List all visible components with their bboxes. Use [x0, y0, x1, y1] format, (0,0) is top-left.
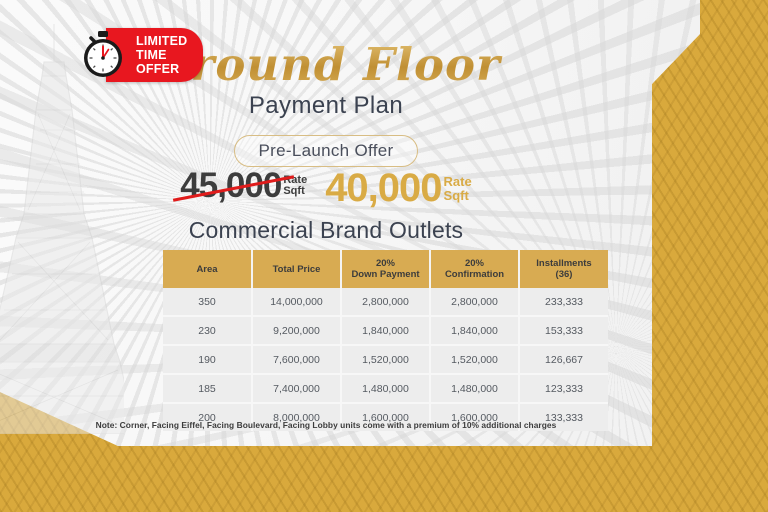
table-header-row: AreaTotal Price20%Down Payment20%Confirm…	[163, 250, 608, 288]
table-cell: 1,520,000	[430, 345, 519, 374]
table-row: 1857,400,0001,480,0001,480,000123,333	[163, 374, 608, 403]
new-rate-label: Rate	[444, 175, 472, 189]
table-header-line: 20%	[433, 258, 516, 269]
table-header-line: Down Payment	[344, 269, 427, 280]
table-cell: 190	[163, 345, 252, 374]
table-cell: 126,667	[519, 345, 608, 374]
new-price-unit: Rate Sqft	[444, 175, 472, 202]
page-subtitle: Payment Plan	[0, 92, 652, 120]
table-cell: 2,800,000	[430, 288, 519, 316]
table-header-line: Confirmation	[433, 269, 516, 280]
table-header-line: Area	[165, 264, 249, 275]
table-cell: 230	[163, 316, 252, 345]
table-cell: 123,333	[519, 374, 608, 403]
price-row: 45,000 Rate Sqft 40,000 Rate Sqft	[0, 166, 652, 211]
payment-plan-table-wrapper: AreaTotal Price20%Down Payment20%Confirm…	[163, 250, 608, 431]
new-price-group: 40,000 Rate Sqft	[325, 166, 472, 211]
old-sqft-label: Sqft	[283, 186, 307, 198]
table-header-cell-4: Installments(36)	[519, 250, 608, 288]
footnote: Note: Corner, Facing Eiffel, Facing Boul…	[0, 420, 652, 430]
pre-launch-offer-pill[interactable]: Pre-Launch Offer	[234, 135, 419, 167]
table-header-line: Installments	[522, 258, 606, 269]
table-cell: 1,840,000	[430, 316, 519, 345]
new-price-value: 40,000	[325, 166, 441, 211]
table-cell: 350	[163, 288, 252, 316]
old-price-group: 45,000 Rate Sqft	[180, 166, 307, 206]
table-row: 1907,600,0001,520,0001,520,000126,667	[163, 345, 608, 374]
table-cell: 1,480,000	[430, 374, 519, 403]
table-header-cell-0: Area	[163, 250, 252, 288]
poster-root: LIMITED TIME OFFER Ground Floor Payment …	[0, 0, 768, 512]
table-cell: 7,400,000	[252, 374, 341, 403]
table-cell: 233,333	[519, 288, 608, 316]
new-sqft-label: Sqft	[444, 189, 472, 203]
badge-line-1: LIMITED	[136, 35, 187, 48]
table-header-cell-2: 20%Down Payment	[341, 250, 430, 288]
table-row: 2309,200,0001,840,0001,840,000153,333	[163, 316, 608, 345]
table-header-cell-1: Total Price	[252, 250, 341, 288]
old-price-value: 45,000	[180, 166, 281, 205]
table-header-line: 20%	[344, 258, 427, 269]
table-cell: 185	[163, 374, 252, 403]
payment-plan-table: AreaTotal Price20%Down Payment20%Confirm…	[163, 250, 608, 431]
table-head: AreaTotal Price20%Down Payment20%Confirm…	[163, 250, 608, 288]
table-cell: 14,000,000	[252, 288, 341, 316]
table-cell: 1,480,000	[341, 374, 430, 403]
table-cell: 1,840,000	[341, 316, 430, 345]
limited-time-offer-badge[interactable]: LIMITED TIME OFFER	[78, 28, 203, 82]
table-header-line: (36)	[522, 269, 606, 280]
badge-line-3: OFFER	[136, 63, 187, 76]
table-header-line: Total Price	[255, 264, 338, 275]
table-cell: 7,600,000	[252, 345, 341, 374]
table-body: 35014,000,0002,800,0002,800,000233,33323…	[163, 288, 608, 431]
table-row: 35014,000,0002,800,0002,800,000233,333	[163, 288, 608, 316]
badge-line-2: TIME	[136, 49, 187, 62]
pre-launch-offer-pill-wrapper: Pre-Launch Offer	[0, 135, 652, 167]
table-header-cell-3: 20%Confirmation	[430, 250, 519, 288]
old-price-value-wrapper: 45,000	[180, 166, 281, 206]
section-title: Commercial Brand Outlets	[0, 217, 652, 244]
table-cell: 9,200,000	[252, 316, 341, 345]
table-cell: 1,520,000	[341, 345, 430, 374]
stopwatch-icon	[78, 30, 128, 80]
table-cell: 153,333	[519, 316, 608, 345]
table-cell: 2,800,000	[341, 288, 430, 316]
